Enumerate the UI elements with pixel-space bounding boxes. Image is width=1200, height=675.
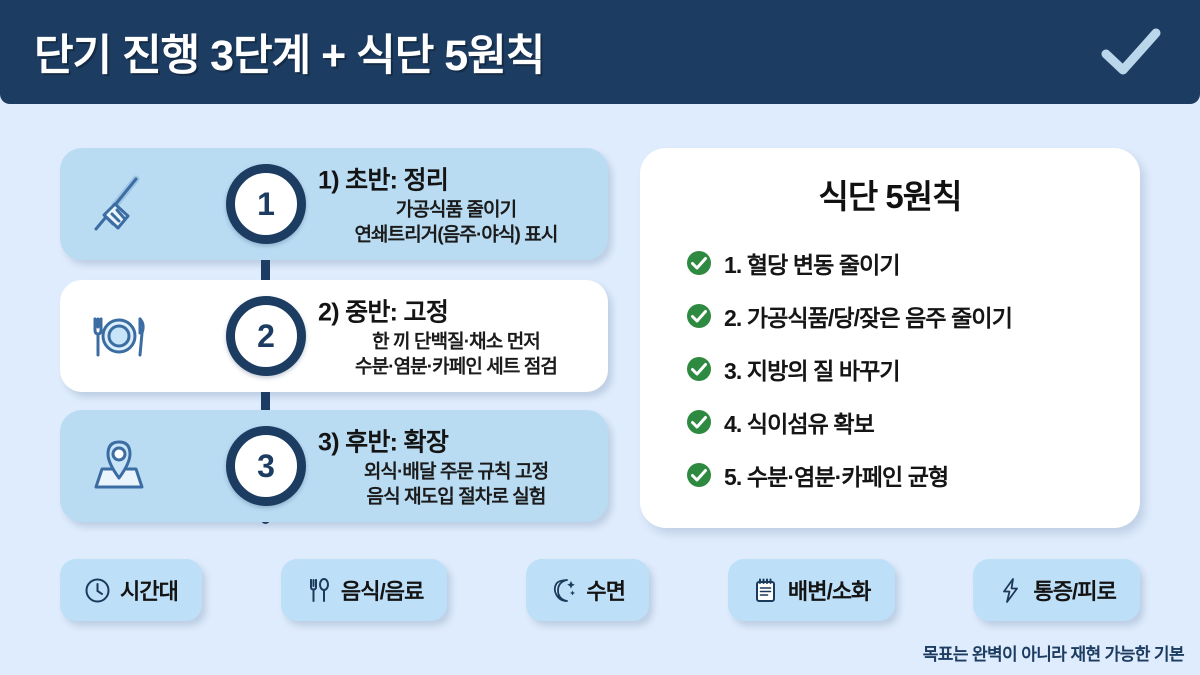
page-title: 단기 진행 3단계 + 식단 5원칙 [34, 21, 544, 83]
footer-note: 목표는 완벽이 아니라 재현 가능한 기본 [923, 640, 1184, 665]
step-text-3: 3) 후반: 확장 외식·배달 주문 규칙 고정 음식 재도입 절차로 실험 [318, 422, 594, 509]
content-area: 1 1) 초반: 정리 가공식품 줄이기 연쇄트리거(음주·야식) 표시 [0, 104, 1200, 675]
chip-digestion[interactable]: 배변/소화 [728, 559, 895, 621]
check-circle-icon [686, 303, 712, 329]
step-detail-3-line-2: 음식 재도입 절차로 실험 [318, 485, 594, 510]
step-text-1: 1) 초반: 정리 가공식품 줄이기 연쇄트리거(음주·야식) 표시 [318, 160, 594, 247]
step-number-1: 1 [257, 188, 275, 220]
rule-text: 5. 수분·염분·카페인 균형 [724, 458, 948, 492]
lightning-bolt-icon [997, 577, 1024, 604]
broom-icon [82, 167, 156, 241]
chip-food-drink[interactable]: 음식/음료 [281, 559, 448, 621]
rule-text: 3. 지방의 질 바꾸기 [724, 352, 900, 386]
chip-pain-fatigue[interactable]: 통증/피로 [973, 559, 1140, 621]
step-detail-2-line-1: 한 끼 단백질·채소 먼저 [318, 330, 594, 355]
step-title-2: 2) 중반: 고정 [318, 292, 594, 328]
step-title-3: 3) 후반: 확장 [318, 422, 594, 458]
chip-label: 음식/음료 [341, 574, 424, 606]
panel-title: 식단 5원칙 [670, 170, 1110, 218]
chip-label: 배변/소화 [788, 574, 871, 606]
rule-text: 4. 식이섬유 확보 [724, 405, 874, 439]
timeline-step-2[interactable]: 2 2) 중반: 고정 한 끼 단백질·채소 먼저 수분·염분·카페인 세트 점… [60, 280, 608, 392]
timeline-step-3[interactable]: 3 3) 후반: 확장 외식·배달 주문 규칙 고정 음식 재도입 절차로 실험 [60, 410, 608, 522]
plate-fork-knife-icon [82, 299, 156, 373]
list-item[interactable]: 4. 식이섬유 확보 [670, 395, 1110, 448]
step-text-2: 2) 중반: 고정 한 끼 단백질·채소 먼저 수분·염분·카페인 세트 점검 [318, 292, 594, 379]
step-detail-3-line-1: 외식·배달 주문 규칙 고정 [318, 460, 594, 485]
check-circle-icon [686, 462, 712, 488]
rules-list: 1. 혈당 변동 줄이기 2. 가공식품/당/잦은 음주 줄이기 [670, 236, 1110, 501]
check-circle-icon [686, 356, 712, 382]
step-number-2: 2 [257, 320, 275, 352]
list-item[interactable]: 2. 가공식품/당/잦은 음주 줄이기 [670, 289, 1110, 342]
category-chips: 시간대 음식/음료 [60, 554, 1140, 626]
chip-label: 시간대 [120, 574, 178, 606]
rule-text: 1. 혈당 변동 줄이기 [724, 246, 900, 280]
step-detail-1-line-2: 연쇄트리거(음주·야식) 표시 [318, 223, 594, 248]
check-circle-icon [686, 409, 712, 435]
chip-time[interactable]: 시간대 [60, 559, 202, 621]
chip-sleep[interactable]: 수면 [526, 559, 649, 621]
step-badge-3: 3 [226, 426, 306, 506]
step-badge-2: 2 [226, 296, 306, 376]
chip-label: 수면 [586, 574, 625, 606]
step-badge-1: 1 [226, 164, 306, 244]
list-item[interactable]: 5. 수분·염분·카페인 균형 [670, 448, 1110, 501]
list-item[interactable]: 3. 지방의 질 바꾸기 [670, 342, 1110, 395]
chip-label: 통증/피로 [1033, 574, 1116, 606]
step-detail-1-line-1: 가공식품 줄이기 [318, 198, 594, 223]
fork-spoon-icon [305, 577, 332, 604]
diet-principles-panel: 식단 5원칙 1. 혈당 변동 줄이기 2. 가공식 [640, 148, 1140, 528]
step-detail-2-line-2: 수분·염분·카페인 세트 점검 [318, 355, 594, 380]
timeline-step-1[interactable]: 1 1) 초반: 정리 가공식품 줄이기 연쇄트리거(음주·야식) 표시 [60, 148, 608, 260]
step-number-3: 3 [257, 450, 275, 482]
rule-text: 2. 가공식품/당/잦은 음주 줄이기 [724, 299, 1012, 333]
list-item[interactable]: 1. 혈당 변동 줄이기 [670, 236, 1110, 289]
moon-stars-icon [550, 577, 577, 604]
step-title-1: 1) 초반: 정리 [318, 160, 594, 196]
check-mark-icon [1100, 27, 1162, 77]
check-circle-icon [686, 250, 712, 276]
notepad-icon [752, 577, 779, 604]
timeline: 1 1) 초반: 정리 가공식품 줄이기 연쇄트리거(음주·야식) 표시 [60, 148, 610, 528]
page-header: 단기 진행 3단계 + 식단 5원칙 [0, 0, 1200, 104]
map-pin-icon [82, 429, 156, 503]
clock-icon [84, 577, 111, 604]
